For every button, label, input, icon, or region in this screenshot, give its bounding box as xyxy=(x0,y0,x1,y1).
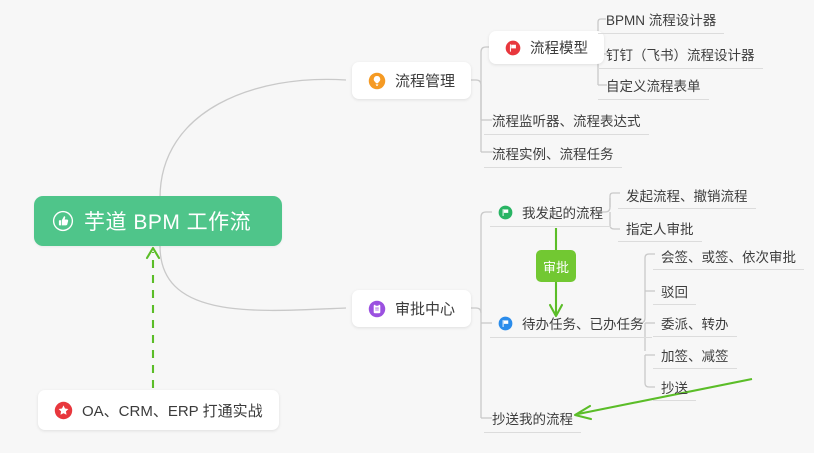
leaf-label-custom-process-form: 自定义流程表单 xyxy=(606,75,701,95)
leaf-label-delegate-transfer: 委派、转办 xyxy=(661,313,729,333)
leaf-label-start-cancel-process: 发起流程、撤销流程 xyxy=(626,185,748,205)
leaf-label-cc: 抄送 xyxy=(661,377,688,397)
leaf-dingtalk-feishu-designer[interactable]: 钉钉（飞书）流程设计器 xyxy=(598,40,763,69)
node-todo-done-task[interactable]: 待办任务、已办任务 xyxy=(490,309,652,338)
leaf-label-add-remove-sign: 加签、减签 xyxy=(661,345,729,365)
branch-node-approval-center[interactable]: 审批中心 xyxy=(352,290,471,327)
branch-node-process-management[interactable]: 流程管理 xyxy=(352,62,471,99)
leaf-cc-to-me-process[interactable]: 抄送我的流程 xyxy=(484,404,581,433)
footnote-node[interactable]: OA、CRM、ERP 打通实战 xyxy=(38,390,279,430)
branch-label-process-management: 流程管理 xyxy=(395,70,455,91)
leaf-label-bpmn-designer: BPMN 流程设计器 xyxy=(606,9,716,29)
leaf-add-remove-sign[interactable]: 加签、减签 xyxy=(653,342,737,369)
leaf-label-dingtalk-feishu-designer: 钉钉（飞书）流程设计器 xyxy=(606,44,755,64)
leaf-designated-approver[interactable]: 指定人审批 xyxy=(618,214,702,242)
leaf-cc[interactable]: 抄送 xyxy=(653,374,696,401)
leaf-custom-process-form[interactable]: 自定义流程表单 xyxy=(598,71,709,100)
root-label: 芋道 BPM 工作流 xyxy=(84,206,251,236)
annotation-tag-approval: 审批 xyxy=(536,250,576,282)
clipboard-icon xyxy=(368,300,386,318)
annotation-tag-approval-label: 审批 xyxy=(543,257,569,276)
edge-ac-spine xyxy=(469,308,481,418)
branch-label-approval-center: 审批中心 xyxy=(395,298,455,319)
flag-icon xyxy=(498,316,513,331)
node-label-process-model: 流程模型 xyxy=(530,37,588,58)
leaf-reject[interactable]: 驳回 xyxy=(653,278,696,305)
node-label-todo-done-task: 待办任务、已办任务 xyxy=(522,313,644,333)
node-my-started-process[interactable]: 我发起的流程 xyxy=(490,198,611,227)
leaf-instance-task[interactable]: 流程实例、流程任务 xyxy=(484,139,622,168)
node-process-model[interactable]: 流程模型 xyxy=(489,31,604,64)
leaf-label-instance-task: 流程实例、流程任务 xyxy=(492,143,614,163)
edge-root-to-approval-center xyxy=(160,246,346,310)
leaf-label-countersign: 会签、或签、依次审批 xyxy=(661,246,796,266)
lightbulb-icon xyxy=(368,72,386,90)
footnote-label: OA、CRM、ERP 打通实战 xyxy=(82,400,263,421)
thumbs-up-icon xyxy=(52,210,74,232)
root-node[interactable]: 芋道 BPM 工作流 xyxy=(34,196,282,246)
leaf-label-listener-expression: 流程监听器、流程表达式 xyxy=(492,110,641,130)
leaf-label-cc-to-me-process: 抄送我的流程 xyxy=(492,408,573,428)
leaf-listener-expression[interactable]: 流程监听器、流程表达式 xyxy=(484,106,649,135)
leaf-label-designated-approver: 指定人审批 xyxy=(626,218,694,238)
edge-root-to-process-management xyxy=(160,79,346,198)
leaf-label-reject: 驳回 xyxy=(661,281,688,301)
star-icon xyxy=(54,401,73,420)
leaf-start-cancel-process[interactable]: 发起流程、撤销流程 xyxy=(618,182,756,209)
mindmap-canvas: 芋道 BPM 工作流 OA、CRM、ERP 打通实战 流程管理 xyxy=(0,0,814,453)
green-dashed-up-arrow xyxy=(147,248,159,388)
flag-icon xyxy=(505,40,521,56)
leaf-countersign[interactable]: 会签、或签、依次审批 xyxy=(653,243,804,270)
node-label-my-started-process: 我发起的流程 xyxy=(522,202,603,222)
edge-ac-to-mystarted xyxy=(481,212,492,313)
leaf-delegate-transfer[interactable]: 委派、转办 xyxy=(653,310,737,337)
flag-icon xyxy=(498,205,513,220)
leaf-bpmn-designer[interactable]: BPMN 流程设计器 xyxy=(598,5,724,34)
